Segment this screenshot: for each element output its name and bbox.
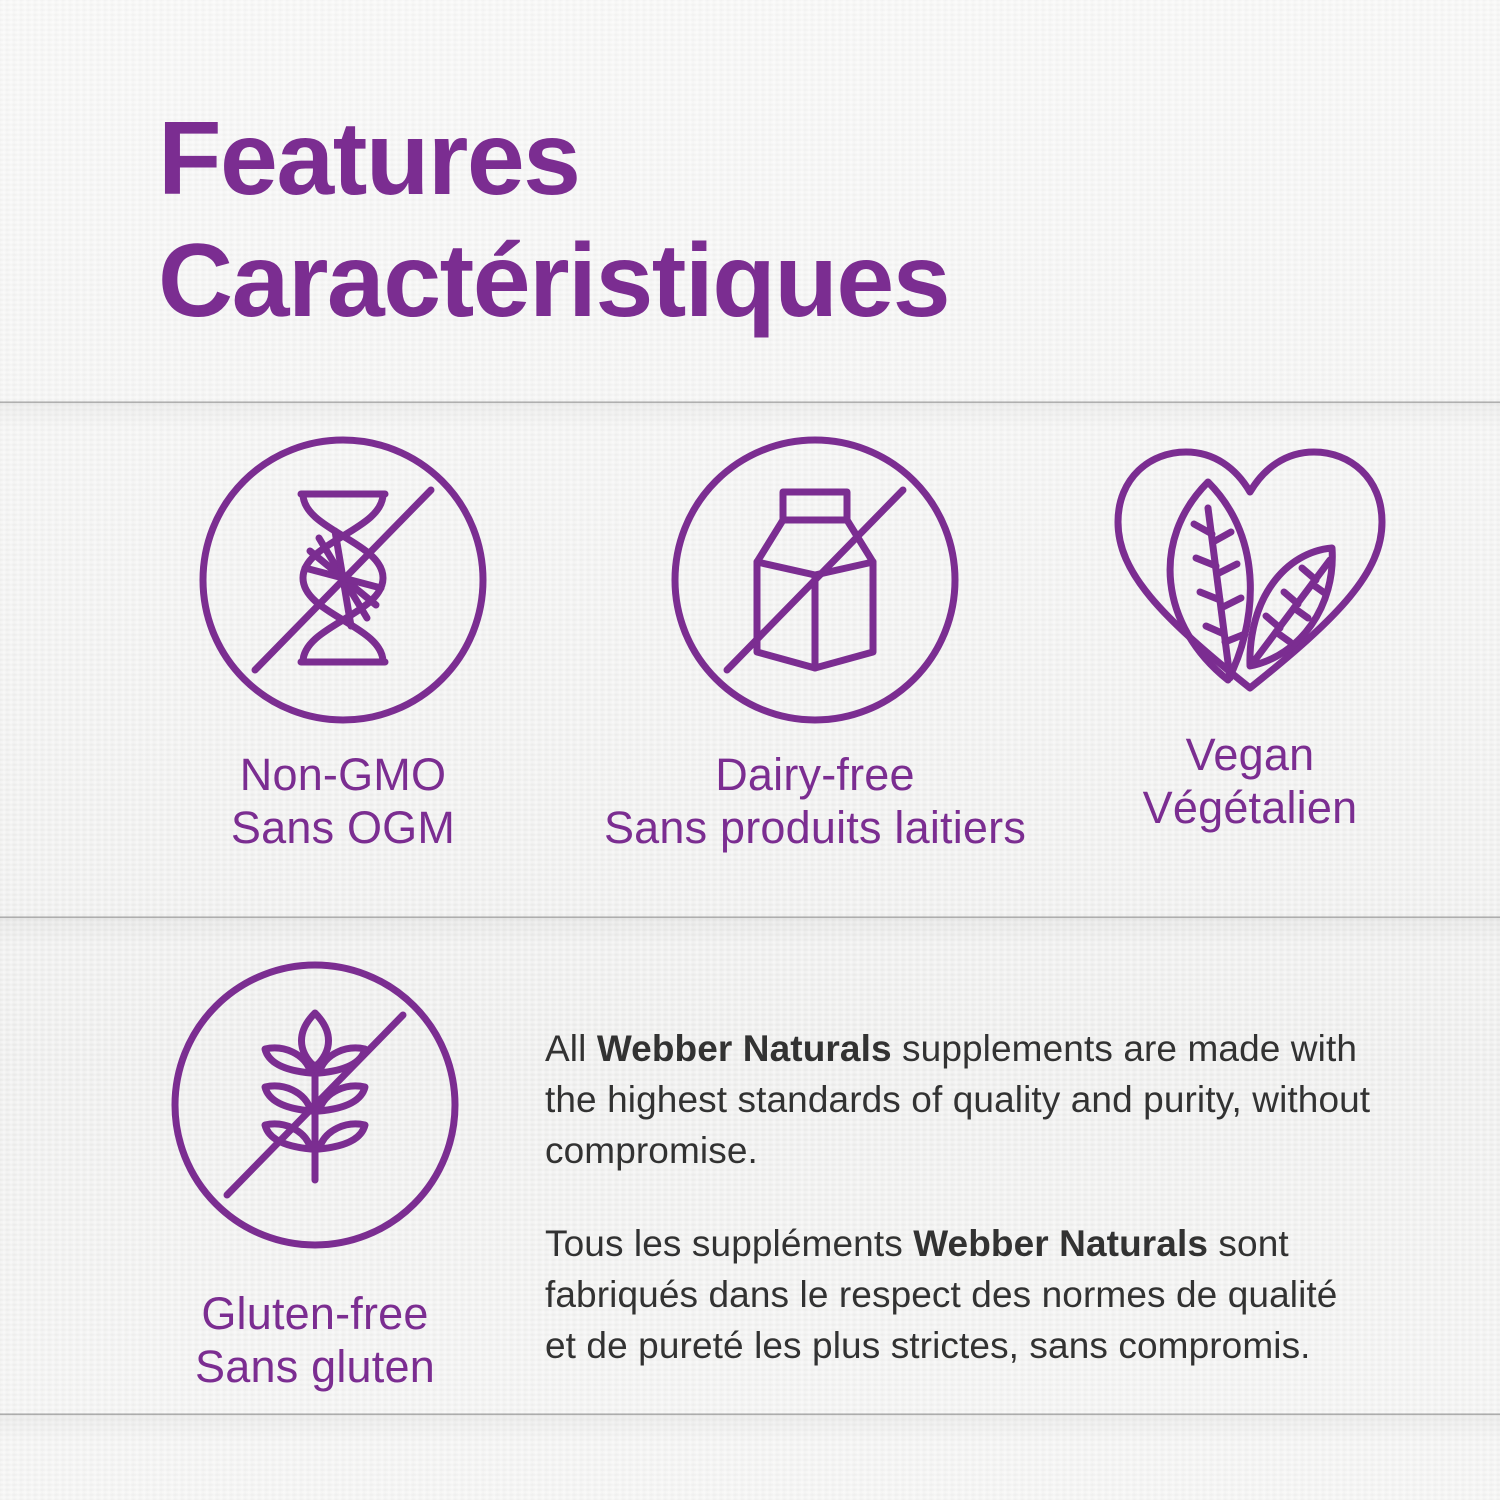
feature-row-top: Non-GMO Sans OGM — [0, 430, 1500, 854]
brand-name-fr: Webber Naturals — [913, 1223, 1208, 1264]
feature-label-fr: Sans OGM — [231, 801, 455, 854]
feature-vegan: Vegan Végétalien — [1040, 430, 1460, 834]
feature-label-en: Dairy-free — [715, 749, 915, 800]
feature-label-dairy-free: Dairy-free Sans produits laitiers — [604, 748, 1026, 854]
plank-seam-middle — [0, 916, 1500, 919]
feature-label-fr: Végétalien — [1143, 781, 1358, 834]
feature-label-non-gmo: Non-GMO Sans OGM — [231, 748, 455, 854]
plank-seam-bottom — [0, 1413, 1500, 1416]
plank-shade-bottom — [0, 1416, 1500, 1442]
brand-copy-fr: Tous les suppléments Webber Naturals son… — [545, 1218, 1375, 1371]
feature-label-gluten-free: Gluten-free Sans gluten — [195, 1287, 435, 1393]
page-title: Features Caractéristiques — [158, 98, 1258, 342]
feature-gluten-free: Gluten-free Sans gluten — [105, 955, 525, 1393]
brand-name-en: Webber Naturals — [597, 1028, 892, 1069]
no-gluten-wheat-icon — [165, 955, 465, 1255]
no-gmo-dna-icon — [193, 430, 493, 730]
brand-copy-en: All Webber Naturals supplements are made… — [545, 1023, 1375, 1176]
copy-fr-lead: Tous les suppléments — [545, 1223, 913, 1264]
title-line-en: Features — [158, 98, 1258, 220]
feature-label-en: Non-GMO — [240, 749, 446, 800]
title-line-fr: Caractéristiques — [158, 220, 1258, 342]
plank-shade-middle — [0, 919, 1500, 945]
feature-label-fr: Sans produits laitiers — [604, 801, 1026, 854]
feature-label-fr: Sans gluten — [195, 1340, 435, 1393]
copy-en-lead: All — [545, 1028, 597, 1069]
vegan-heart-leaf-icon — [1100, 430, 1400, 710]
feature-non-gmo: Non-GMO Sans OGM — [108, 430, 578, 854]
feature-label-en: Gluten-free — [201, 1288, 428, 1339]
features-panel: Features Caractéristiques — [0, 0, 1500, 1500]
feature-dairy-free: Dairy-free Sans produits laitiers — [600, 430, 1030, 854]
plank-shade-top — [0, 404, 1500, 430]
lower-section: Gluten-free Sans gluten All Webber Natur… — [0, 955, 1500, 1393]
no-dairy-carton-icon — [665, 430, 965, 730]
plank-seam-top — [0, 401, 1500, 404]
brand-copy-block: All Webber Naturals supplements are made… — [545, 1023, 1375, 1371]
feature-label-vegan: Vegan Végétalien — [1143, 728, 1358, 834]
feature-label-en: Vegan — [1186, 729, 1315, 780]
